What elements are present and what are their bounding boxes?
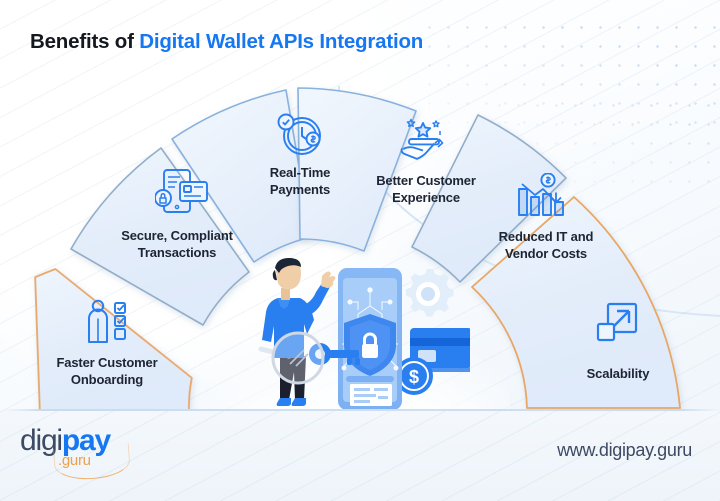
man-with-magnifier-phone-security-illustration: $	[250, 258, 470, 418]
label-line: Onboarding	[22, 372, 192, 389]
background-dot-grid	[420, 18, 720, 128]
infographic-canvas: Benefits of Digital Wallet APIs Integrat…	[0, 0, 720, 501]
bar-chart-down-dollar-icon	[517, 173, 569, 218]
website-url[interactable]: www.digipay.guru	[557, 440, 692, 461]
arc-segment-label-scalability: Scalability	[548, 366, 688, 383]
label-line: Reduced IT and	[466, 229, 626, 246]
label-line: Experience	[352, 190, 500, 207]
label-line: Vendor Costs	[466, 246, 626, 263]
magnifying-glass-icon	[273, 333, 323, 383]
arc-segment-label-secure-compliant-transactions: Secure, Compliant Transactions	[88, 228, 266, 261]
arc-segment-label-better-customer-experience: Better Customer Experience	[352, 173, 500, 206]
person-checklist-icon	[84, 298, 136, 346]
arc-segment-label-faster-customer-onboarding: Faster Customer Onboarding	[22, 355, 192, 388]
hand-stars-icon	[399, 116, 451, 160]
label-line: Better Customer	[352, 173, 500, 190]
svg-text:$: $	[409, 367, 419, 387]
clock-dollar-icon	[277, 113, 325, 159]
page-title-highlight: Digital Wallet APIs Integration	[139, 30, 423, 53]
page-title: Benefits of Digital Wallet APIs Integrat…	[30, 30, 423, 54]
label-line: Secure, Compliant	[88, 228, 266, 245]
phone-lock-card-icon	[155, 168, 211, 218]
expand-arrows-icon	[595, 301, 641, 347]
label-line: Scalability	[548, 366, 688, 383]
label-line: Faster Customer	[22, 355, 192, 372]
gear-icon	[406, 269, 454, 317]
arc-segment-label-reduced-it-vendor-costs: Reduced IT and Vendor Costs	[466, 229, 626, 262]
label-line: Transactions	[88, 245, 266, 262]
logo-part-guru: .guru	[58, 452, 91, 469]
page-title-plain: Benefits of	[30, 30, 139, 53]
baseline-divider	[0, 409, 720, 411]
digipay-logo[interactable]: digipay .guru	[20, 424, 200, 474]
smartphone	[338, 268, 402, 410]
